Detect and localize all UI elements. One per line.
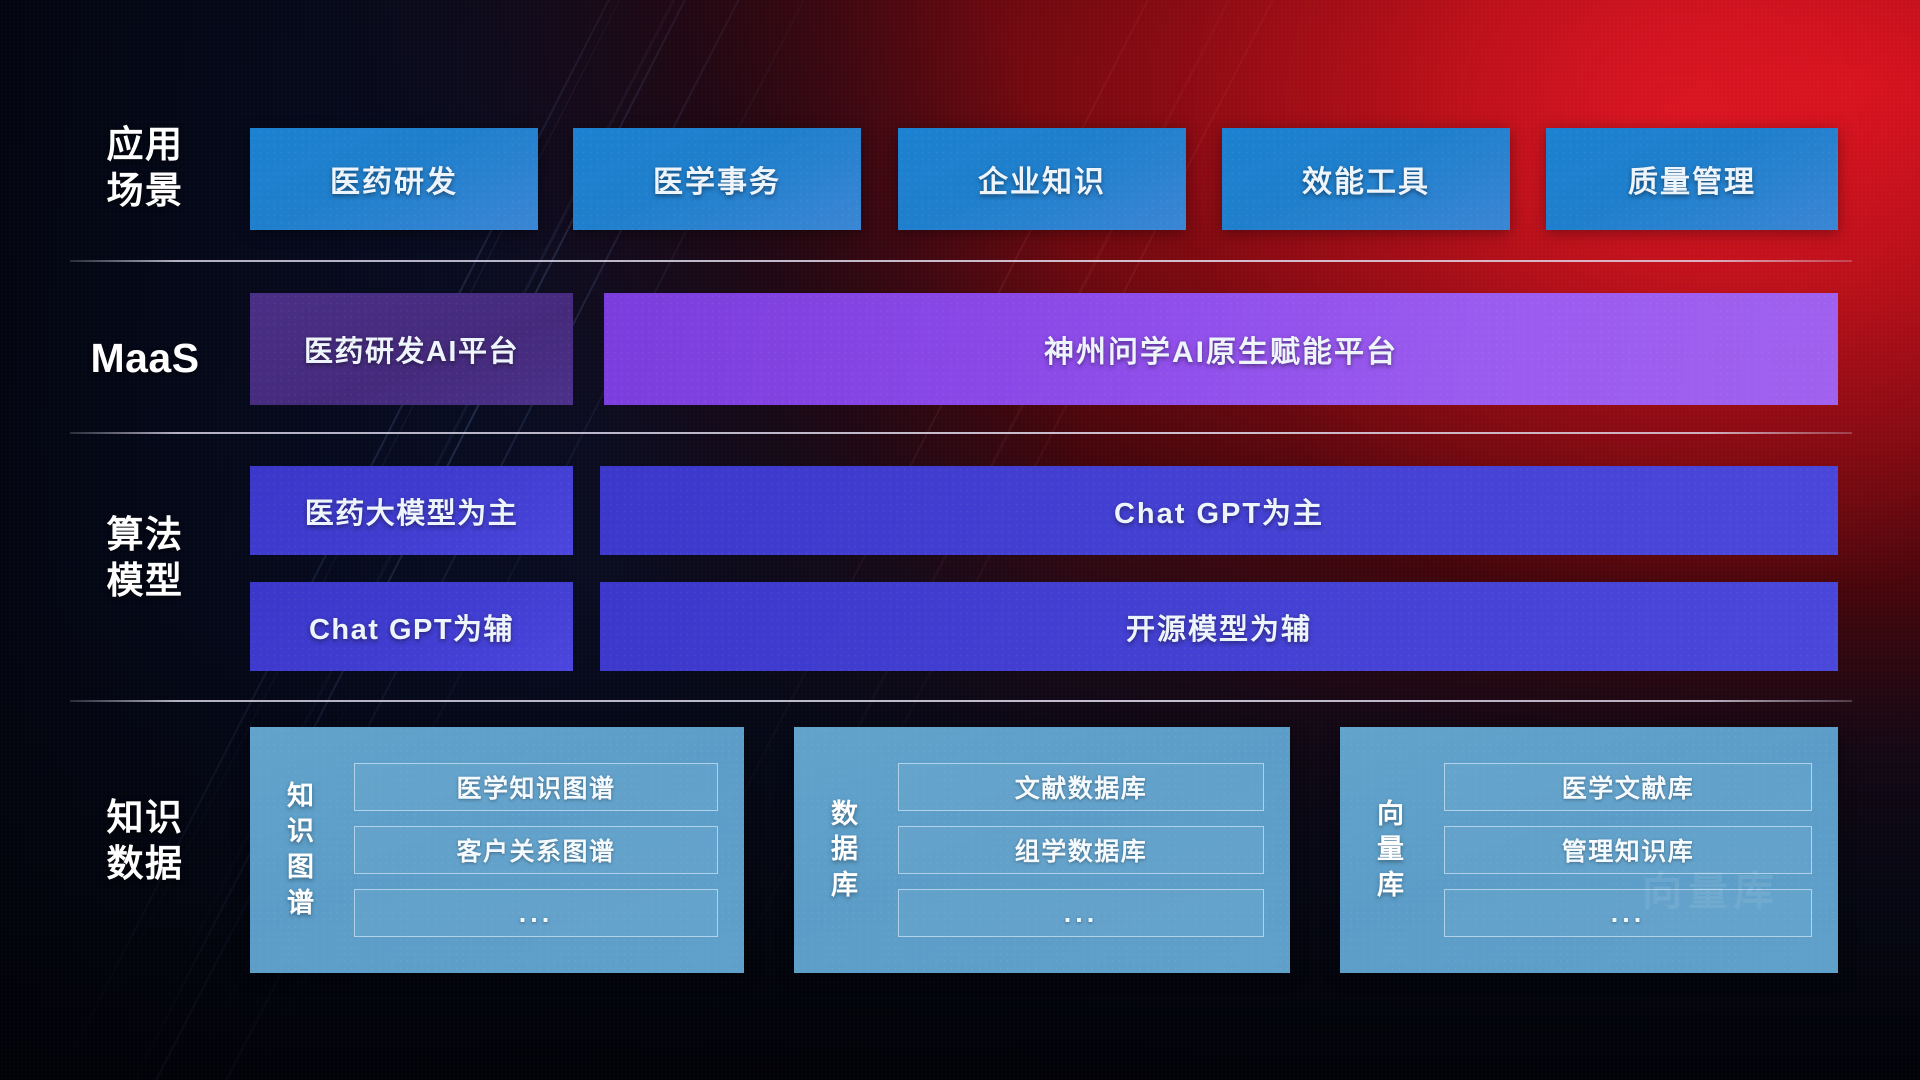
row-label-knowledge-line-2: 数据 — [60, 841, 230, 887]
knowledge-item-omics-database[interactable]: 组学数据库 — [898, 826, 1264, 874]
knowledge-panel-3-items: 医学文献库 管理知识库 ... — [1424, 727, 1838, 973]
app-tile-5[interactable]: 质量管理 — [1546, 128, 1838, 230]
algo-tile-opensource-secondary[interactable]: 开源模型为辅 — [600, 582, 1838, 671]
knowledge-item-medical-knowledge-graph[interactable]: 医学知识图谱 — [354, 763, 718, 811]
knowledge-panel-database[interactable]: 数 据 库 文献数据库 组学数据库 ... — [794, 727, 1290, 973]
row-label-line-2: 场景 — [60, 168, 230, 214]
algo-tile-chatgpt-secondary-label: Chat GPT为辅 — [309, 606, 514, 648]
row-label-knowledge-line-1: 知识 — [60, 795, 230, 841]
database-item-3-label: ... — [1064, 898, 1099, 929]
maas-tile-shenzhou-platform-label: 神州问学AI原生赋能平台 — [1044, 327, 1398, 371]
app-tile-4[interactable]: 效能工具 — [1222, 128, 1510, 230]
knowledge-panel-1-title-char-4: 谱 — [287, 886, 315, 922]
knowledge-panel-2-title: 数 据 库 — [812, 727, 878, 973]
divider-1 — [70, 260, 1852, 262]
row-label-algo-line-1: 算法 — [60, 512, 230, 558]
algo-tile-chatgpt-secondary[interactable]: Chat GPT为辅 — [250, 582, 573, 671]
knowledge-item-3-label: ... — [519, 898, 554, 929]
knowledge-panel-3-title-char-2: 量 — [1377, 832, 1405, 868]
app-tile-2-label: 医学事务 — [653, 157, 781, 201]
architecture-diagram: 应用 场景 医药研发 医学事务 企业知识 效能工具 质量管理 MaaS 医药研发… — [0, 0, 1920, 1080]
app-tile-3-label: 企业知识 — [978, 157, 1106, 201]
knowledge-panel-2-title-char-1: 数 — [831, 797, 859, 833]
vector-item-1-label: 医学文献库 — [1562, 769, 1695, 805]
app-tile-4-label: 效能工具 — [1302, 157, 1430, 201]
algo-tile-chatgpt-primary-label: Chat GPT为主 — [1114, 490, 1324, 532]
knowledge-item-management-knowledge-store[interactable]: 管理知识库 — [1444, 826, 1812, 874]
knowledge-item-customer-relation-graph[interactable]: 客户关系图谱 — [354, 826, 718, 874]
row-label-line-1: 应用 — [60, 122, 230, 168]
row-label-application-scenario: 应用 场景 — [60, 122, 230, 214]
knowledge-panel-2-title-char-3: 库 — [831, 868, 859, 904]
knowledge-item-2-label: 客户关系图谱 — [456, 832, 615, 868]
app-tile-2[interactable]: 医学事务 — [573, 128, 861, 230]
knowledge-panel-1-title-char-2: 识 — [287, 814, 315, 850]
database-item-1-label: 文献数据库 — [1015, 769, 1148, 805]
algo-tile-pharma-llm-primary[interactable]: 医药大模型为主 — [250, 466, 573, 555]
app-tile-3[interactable]: 企业知识 — [898, 128, 1186, 230]
knowledge-panel-1-items: 医学知识图谱 客户关系图谱 ... — [334, 727, 744, 973]
vector-item-3-label: ... — [1611, 898, 1646, 929]
row-label-maas-text: MaaS — [60, 333, 230, 384]
knowledge-item-literature-database[interactable]: 文献数据库 — [898, 763, 1264, 811]
divider-2 — [70, 432, 1852, 434]
divider-3 — [70, 700, 1852, 702]
maas-tile-pharma-ai-platform[interactable]: 医药研发AI平台 — [250, 293, 573, 405]
app-tile-1-label: 医药研发 — [330, 157, 458, 201]
knowledge-panel-knowledge-graph[interactable]: 知 识 图 谱 医学知识图谱 客户关系图谱 ... — [250, 727, 744, 973]
row-label-algorithm-model: 算法 模型 — [60, 512, 230, 604]
knowledge-item-more-3[interactable]: ... — [1444, 889, 1812, 937]
algo-tile-chatgpt-primary[interactable]: Chat GPT为主 — [600, 466, 1838, 555]
algo-tile-pharma-llm-primary-label: 医药大模型为主 — [305, 490, 519, 532]
knowledge-item-medical-literature-store[interactable]: 医学文献库 — [1444, 763, 1812, 811]
maas-tile-shenzhou-platform[interactable]: 神州问学AI原生赋能平台 — [604, 293, 1838, 405]
knowledge-panel-3-title: 向 量 库 — [1358, 727, 1424, 973]
knowledge-panel-1-title-char-1: 知 — [287, 779, 315, 815]
knowledge-item-more-1[interactable]: ... — [354, 889, 718, 937]
row-label-knowledge-data: 知识 数据 — [60, 795, 230, 887]
knowledge-item-1-label: 医学知识图谱 — [456, 769, 615, 805]
knowledge-panel-vector-store[interactable]: 向量库 向 量 库 医学文献库 管理知识库 ... — [1340, 727, 1838, 973]
knowledge-panel-3-title-char-3: 库 — [1377, 868, 1405, 904]
row-label-algo-line-2: 模型 — [60, 558, 230, 604]
knowledge-panel-1-title: 知 识 图 谱 — [268, 727, 334, 973]
database-item-2-label: 组学数据库 — [1015, 832, 1148, 868]
algo-tile-opensource-secondary-label: 开源模型为辅 — [1126, 606, 1312, 648]
vector-item-2-label: 管理知识库 — [1562, 832, 1695, 868]
knowledge-item-more-2[interactable]: ... — [898, 889, 1264, 937]
app-tile-5-label: 质量管理 — [1628, 157, 1756, 201]
maas-tile-pharma-ai-platform-label: 医药研发AI平台 — [304, 328, 519, 370]
knowledge-panel-2-items: 文献数据库 组学数据库 ... — [878, 727, 1290, 973]
knowledge-panel-2-title-char-2: 据 — [831, 832, 859, 868]
knowledge-panel-3-title-char-1: 向 — [1377, 797, 1405, 833]
app-tile-1[interactable]: 医药研发 — [250, 128, 538, 230]
row-label-maas: MaaS — [60, 333, 230, 384]
knowledge-panel-1-title-char-3: 图 — [287, 850, 315, 886]
